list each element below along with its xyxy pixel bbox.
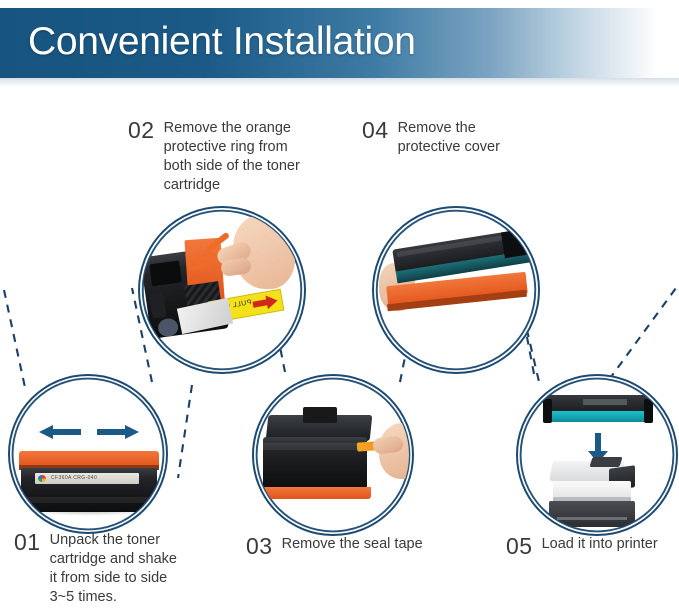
step-03-circle: [252, 374, 414, 536]
shake-arrows-icon: [37, 421, 141, 443]
drum-cyan-roller: [547, 411, 649, 422]
printer-paper-drawer: [557, 517, 627, 520]
cartridge-with-drum: [543, 395, 653, 429]
step-02-photo: PULL OUT: [143, 211, 301, 369]
cartridge-brand-dots-icon: [38, 475, 46, 482]
step-03-photo: [257, 379, 409, 531]
step-02-caption: 02 Remove the orange protective ring fro…: [128, 119, 343, 196]
cartridge-notch: [149, 260, 182, 286]
step-05-circle: [516, 374, 678, 536]
step-04-circle: [372, 206, 540, 374]
cartridge-body-seam: [263, 443, 367, 450]
step-02-text: Remove the orange protective ring from b…: [164, 119, 300, 196]
cartridge-handle-block: [303, 407, 337, 423]
step-04-caption: 04 Remove the protective cover: [362, 119, 547, 157]
cartridge-top-label: [583, 399, 627, 405]
header-shadow: [0, 78, 679, 87]
step-05-number: 05: [506, 535, 533, 558]
step-01-photo: CF360A CRG-040: [13, 379, 163, 529]
printer-base-cabinet: [549, 501, 635, 527]
step-05-caption: 05 Load it into printer: [506, 535, 679, 558]
page-title: Convenient Installation: [28, 20, 416, 64]
cartridge-body-highlight: [21, 497, 157, 503]
step-05-text: Load it into printer: [542, 535, 658, 554]
step-02-circle: PULL OUT: [138, 206, 306, 374]
cartridge-orange-base: [261, 487, 371, 499]
header-banner: Convenient Installation: [0, 8, 679, 78]
hand-pulling-tape: [373, 423, 409, 485]
step-01-caption: 01 Unpack the toner cartridge and shake …: [14, 531, 224, 608]
drum-right-cap: [644, 399, 653, 423]
step-01-text: Unpack the toner cartridge and shake it …: [50, 531, 177, 608]
step-04-photo: [377, 211, 535, 369]
printer-feeder-tray: [589, 457, 622, 467]
connector-02-down: [178, 385, 192, 478]
step-04-number: 04: [362, 119, 389, 142]
step-03-caption: 03 Remove the seal tape: [246, 535, 476, 558]
step-02-number: 02: [128, 119, 155, 142]
step-03-number: 03: [246, 535, 273, 558]
cartridge-ground-shadow: [25, 510, 153, 516]
step-01-circle: CF360A CRG-040: [8, 374, 168, 534]
drum-end-cap: [501, 229, 529, 258]
infographic-root: Convenient Installation: [0, 0, 679, 602]
printer: [547, 461, 651, 529]
step-03-text: Remove the seal tape: [282, 535, 423, 554]
step-01-number: 01: [14, 531, 41, 554]
connector-left-edge: [4, 290, 26, 392]
step-05-photo: [521, 379, 673, 531]
drum-left-cap: [543, 399, 552, 423]
step-04-text: Remove the protective cover: [398, 119, 500, 157]
cartridge-label-text: CF360A CRG-040: [51, 475, 135, 482]
